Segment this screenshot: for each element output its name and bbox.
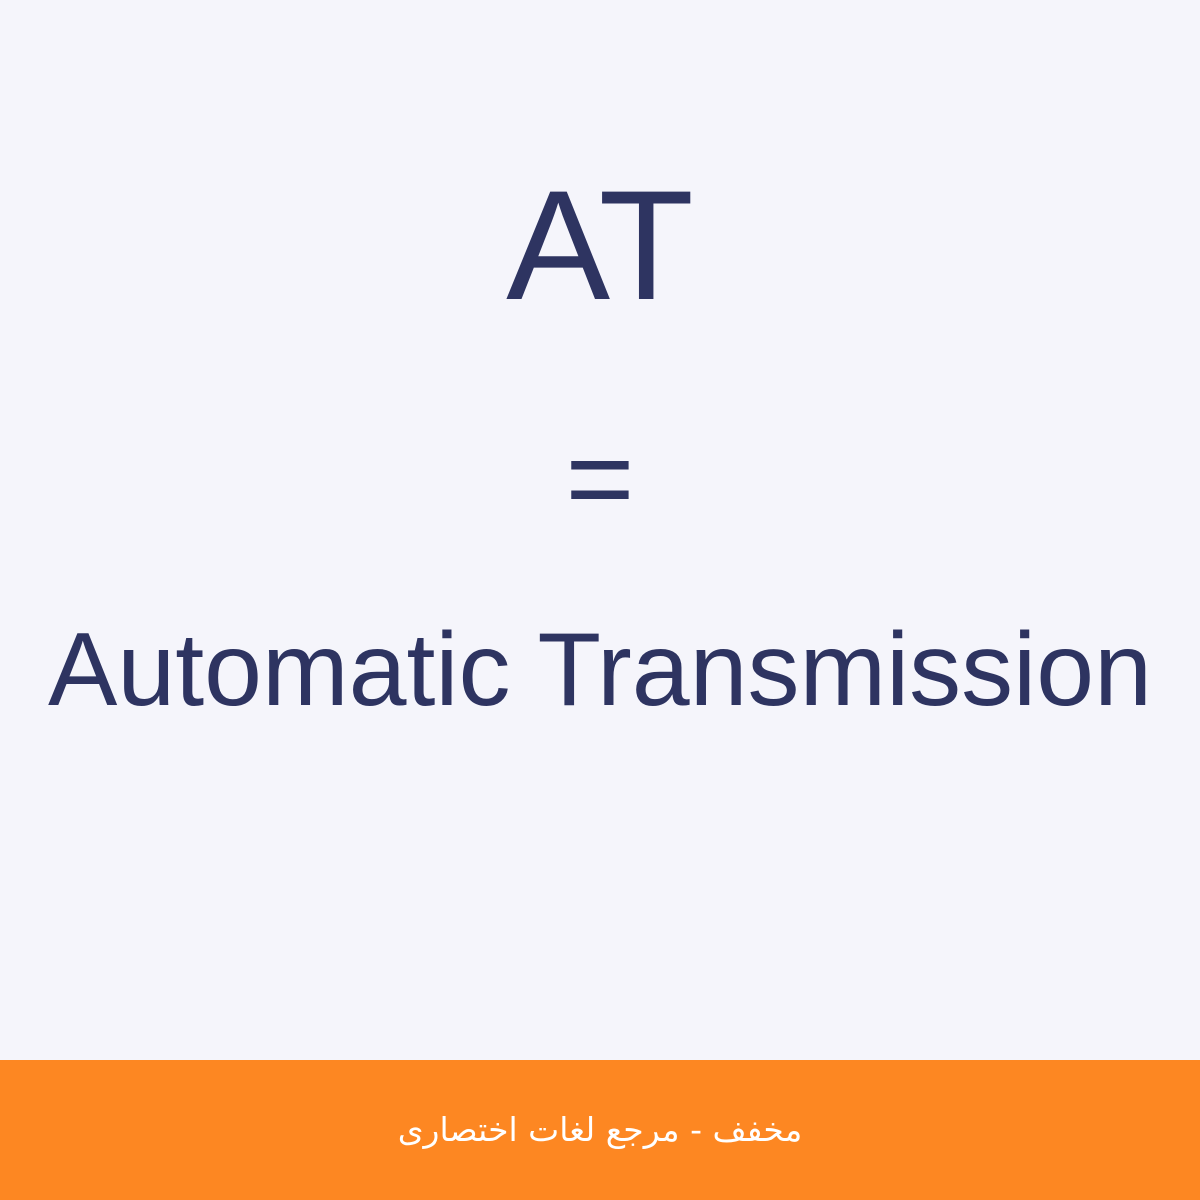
footer-banner: مخفف - مرجع لغات اختصاری [0,1060,1200,1200]
card-content: AT = Automatic Transmission [0,0,1200,1060]
footer-branding-text: مخفف - مرجع لغات اختصاری [398,1107,803,1153]
abbreviation-expansion: Automatic Transmission [48,614,1152,726]
abbreviation-title: AT [506,168,694,324]
abbreviation-card: AT = Automatic Transmission مخفف - مرجع … [0,0,1200,1200]
equals-symbol: = [566,420,635,538]
